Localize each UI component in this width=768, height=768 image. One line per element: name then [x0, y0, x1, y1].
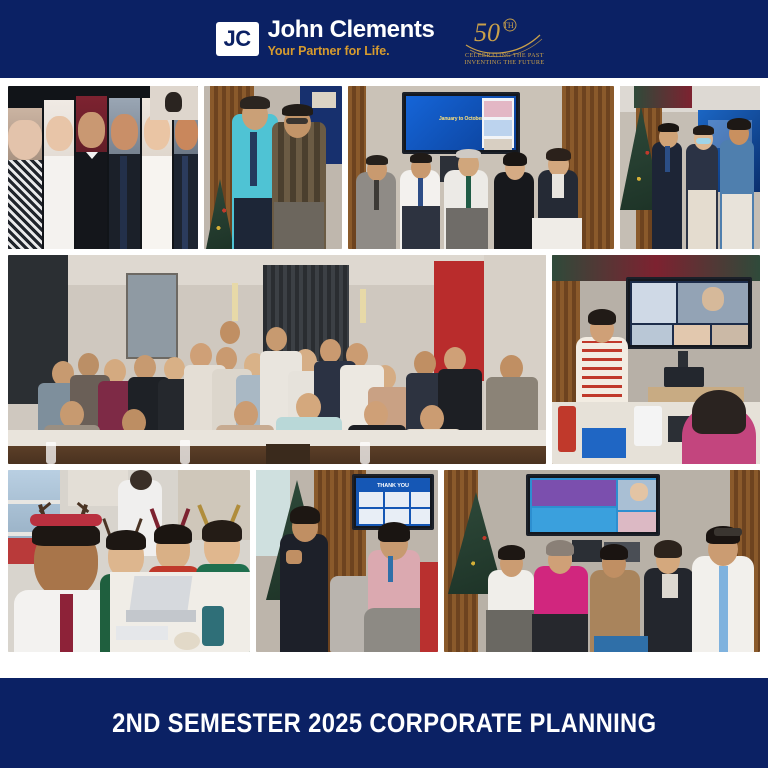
video-conference-screen	[626, 277, 752, 349]
photo-collage: January to October	[0, 78, 768, 678]
photo-video-call-headshots	[8, 86, 198, 249]
brand-tagline: Your Partner for Life.	[268, 44, 435, 60]
collage-row-top: January to October	[8, 86, 760, 249]
event-title: 2ND SEMESTER 2025 CORPORATE PLANNING	[112, 708, 656, 739]
photo-panel-seated-executives: January to October	[348, 86, 614, 249]
brand-name: John Clements	[268, 18, 435, 43]
presentation-screen	[526, 474, 660, 536]
footer-banner: 2ND SEMESTER 2025 CORPORATE PLANNING	[0, 678, 768, 768]
collage-row-bottom: THANK YOU	[8, 470, 760, 652]
anniversary-logo: 50 TH CELEBRATING THE PAST INVENTING THE…	[456, 11, 552, 67]
collage-row-middle	[8, 255, 760, 464]
presentation-screen: January to October	[402, 92, 520, 154]
brand-text-block: John Clements Your Partner for Life.	[268, 18, 435, 60]
photo-three-colleagues-christmas-tree	[620, 86, 760, 249]
jc-logo-text: JC	[224, 28, 251, 50]
anniversary-motto: CELEBRATING THE PAST INVENTING THE FUTUR…	[464, 52, 544, 67]
poster-page: JC John Clements Your Partner for Life. …	[0, 0, 768, 768]
anniversary-line-1: CELEBRATING THE PAST	[464, 52, 544, 59]
photo-two-men-standing	[204, 86, 342, 249]
photo-speaker-and-listener: THANK YOU	[256, 470, 438, 652]
brand-lockup: JC John Clements Your Partner for Life.	[216, 18, 435, 60]
photo-large-group-celebration	[8, 255, 546, 464]
anniversary-line-2: INVENTING THE FUTURE	[464, 59, 544, 66]
photo-presenter-video-conference	[552, 255, 760, 464]
jc-logo-icon: JC	[216, 22, 259, 56]
screen-text: THANK YOU	[356, 483, 430, 489]
header-bar: JC John Clements Your Partner for Life. …	[0, 0, 768, 78]
photo-audience-seated-row	[444, 470, 760, 652]
photo-office-selfie-antlers	[8, 470, 250, 652]
svg-text:50: 50	[474, 18, 500, 47]
